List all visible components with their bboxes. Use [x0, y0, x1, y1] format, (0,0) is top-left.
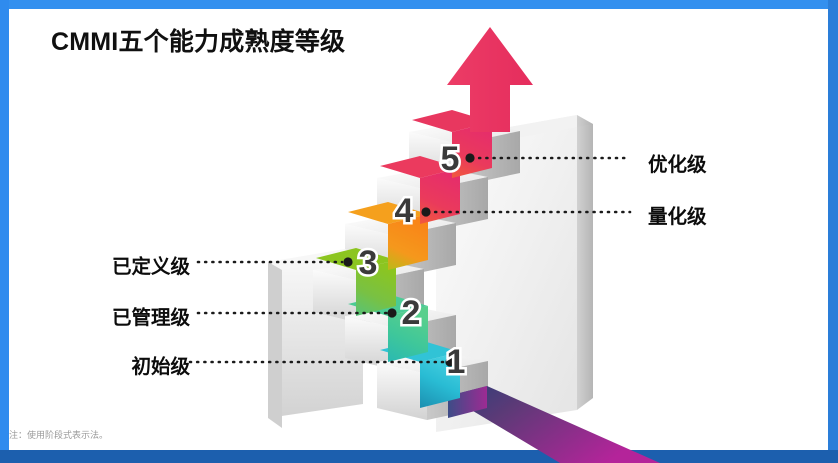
level-label-5: 优化级	[648, 148, 707, 177]
cmmi-staircase-illustration: 5 4 3 2 1	[0, 0, 838, 463]
step-number-5: 5	[441, 140, 460, 178]
step-number-4: 4	[395, 192, 414, 230]
slide-canvas: CMMI五个能力成熟度等级	[0, 0, 838, 463]
leader-dot-3	[343, 257, 352, 266]
step-number-2: 2	[402, 294, 421, 332]
level-label-3: 已定义级	[90, 250, 190, 279]
leader-dot-4	[421, 207, 430, 216]
level-label-4: 量化级	[648, 200, 707, 229]
step-number-3: 3	[359, 244, 378, 282]
leader-dot-5	[465, 153, 474, 162]
level-label-2: 已管理级	[90, 301, 190, 330]
footnote-text: 注：使用阶段式表示法。	[9, 428, 108, 441]
leader-dot-2	[387, 308, 396, 317]
step-number-1: 1	[447, 343, 466, 381]
level-label-1: 初始级	[110, 350, 190, 379]
